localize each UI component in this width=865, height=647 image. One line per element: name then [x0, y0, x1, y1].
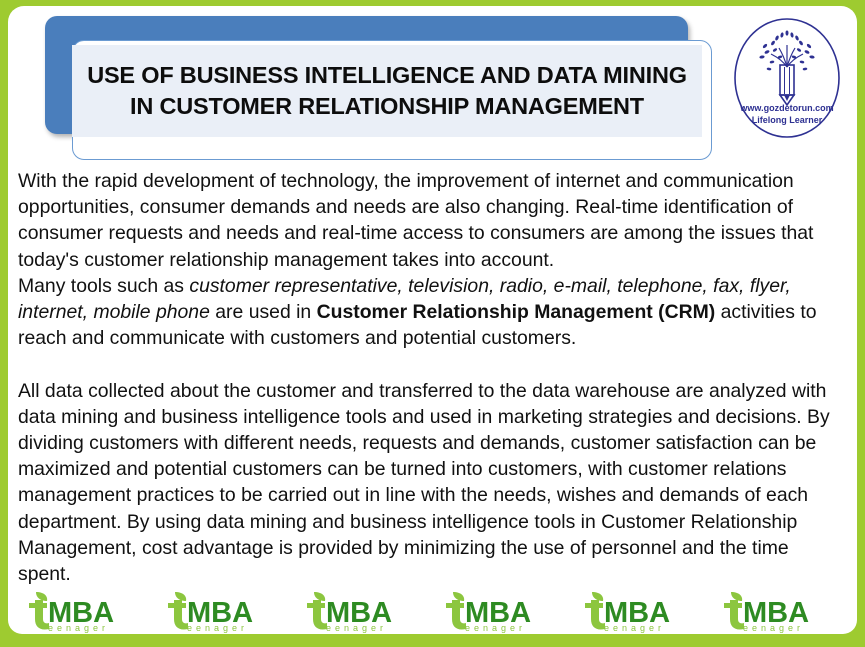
- leaf-icon: [175, 592, 186, 601]
- footer-tmba-logo: MBAeenager: [717, 589, 845, 633]
- page-title: USE OF BUSINESS INTELLIGENCE AND DATA MI…: [72, 45, 702, 137]
- bottom-green-band: [0, 634, 865, 647]
- page-title-line-1: USE OF BUSINESS INTELLIGENCE AND DATA MI…: [87, 60, 687, 91]
- footer-tmba-logo: MBAeenager: [22, 589, 150, 633]
- body-copy: With the rapid development of technology…: [18, 168, 842, 587]
- paragraph-3: All data collected about the customer an…: [18, 378, 842, 588]
- paragraph-2-lead: Many tools such as: [18, 275, 189, 297]
- paragraph-gap: [18, 351, 842, 377]
- leaf-icon: [453, 592, 464, 601]
- logo-sub-text: eenager: [187, 623, 248, 633]
- leaf-icon: [731, 592, 742, 601]
- slide-canvas: USE OF BUSINESS INTELLIGENCE AND DATA MI…: [0, 0, 865, 647]
- logo-t-crossbar: [585, 603, 603, 608]
- logo-t-crossbar: [724, 603, 742, 608]
- brand-logo-tagline: Lifelong Learner: [752, 115, 823, 125]
- logo-sub-text: eenager: [743, 623, 804, 633]
- logo-sub-text: eenager: [48, 623, 109, 633]
- paragraph-1: With the rapid development of technology…: [18, 168, 842, 273]
- logo-sub-text: eenager: [326, 623, 387, 633]
- page-title-line-2: IN CUSTOMER RELATIONSHIP MANAGEMENT: [130, 91, 644, 122]
- leaf-icon: [314, 592, 325, 601]
- logo-t-crossbar: [168, 603, 186, 608]
- brand-logo: www.gozdetorun.com Lifelong Learner: [733, 17, 841, 139]
- logo-t-crossbar: [307, 603, 325, 608]
- leaf-icon: [36, 592, 47, 601]
- paragraph-2-middle: are used in: [210, 301, 317, 323]
- brand-logo-website: www.gozdetorun.com: [739, 103, 833, 113]
- paragraph-2: Many tools such as customer representati…: [18, 273, 842, 352]
- logo-t-crossbar: [29, 603, 47, 608]
- paragraph-2-bold-term: Customer Relationship Management (CRM): [317, 301, 716, 323]
- logo-t-crossbar: [446, 603, 464, 608]
- logo-sub-text: eenager: [465, 623, 526, 633]
- footer-logo-strip: MBAeenagerMBAeenagerMBAeenagerMBAeenager…: [8, 588, 857, 634]
- logo-sub-text: eenager: [604, 623, 665, 633]
- footer-tmba-logo: MBAeenager: [439, 589, 567, 633]
- footer-tmba-logo: MBAeenager: [161, 589, 289, 633]
- leaf-icon: [592, 592, 603, 601]
- footer-tmba-logo: MBAeenager: [578, 589, 706, 633]
- footer-tmba-logo: MBAeenager: [300, 589, 428, 633]
